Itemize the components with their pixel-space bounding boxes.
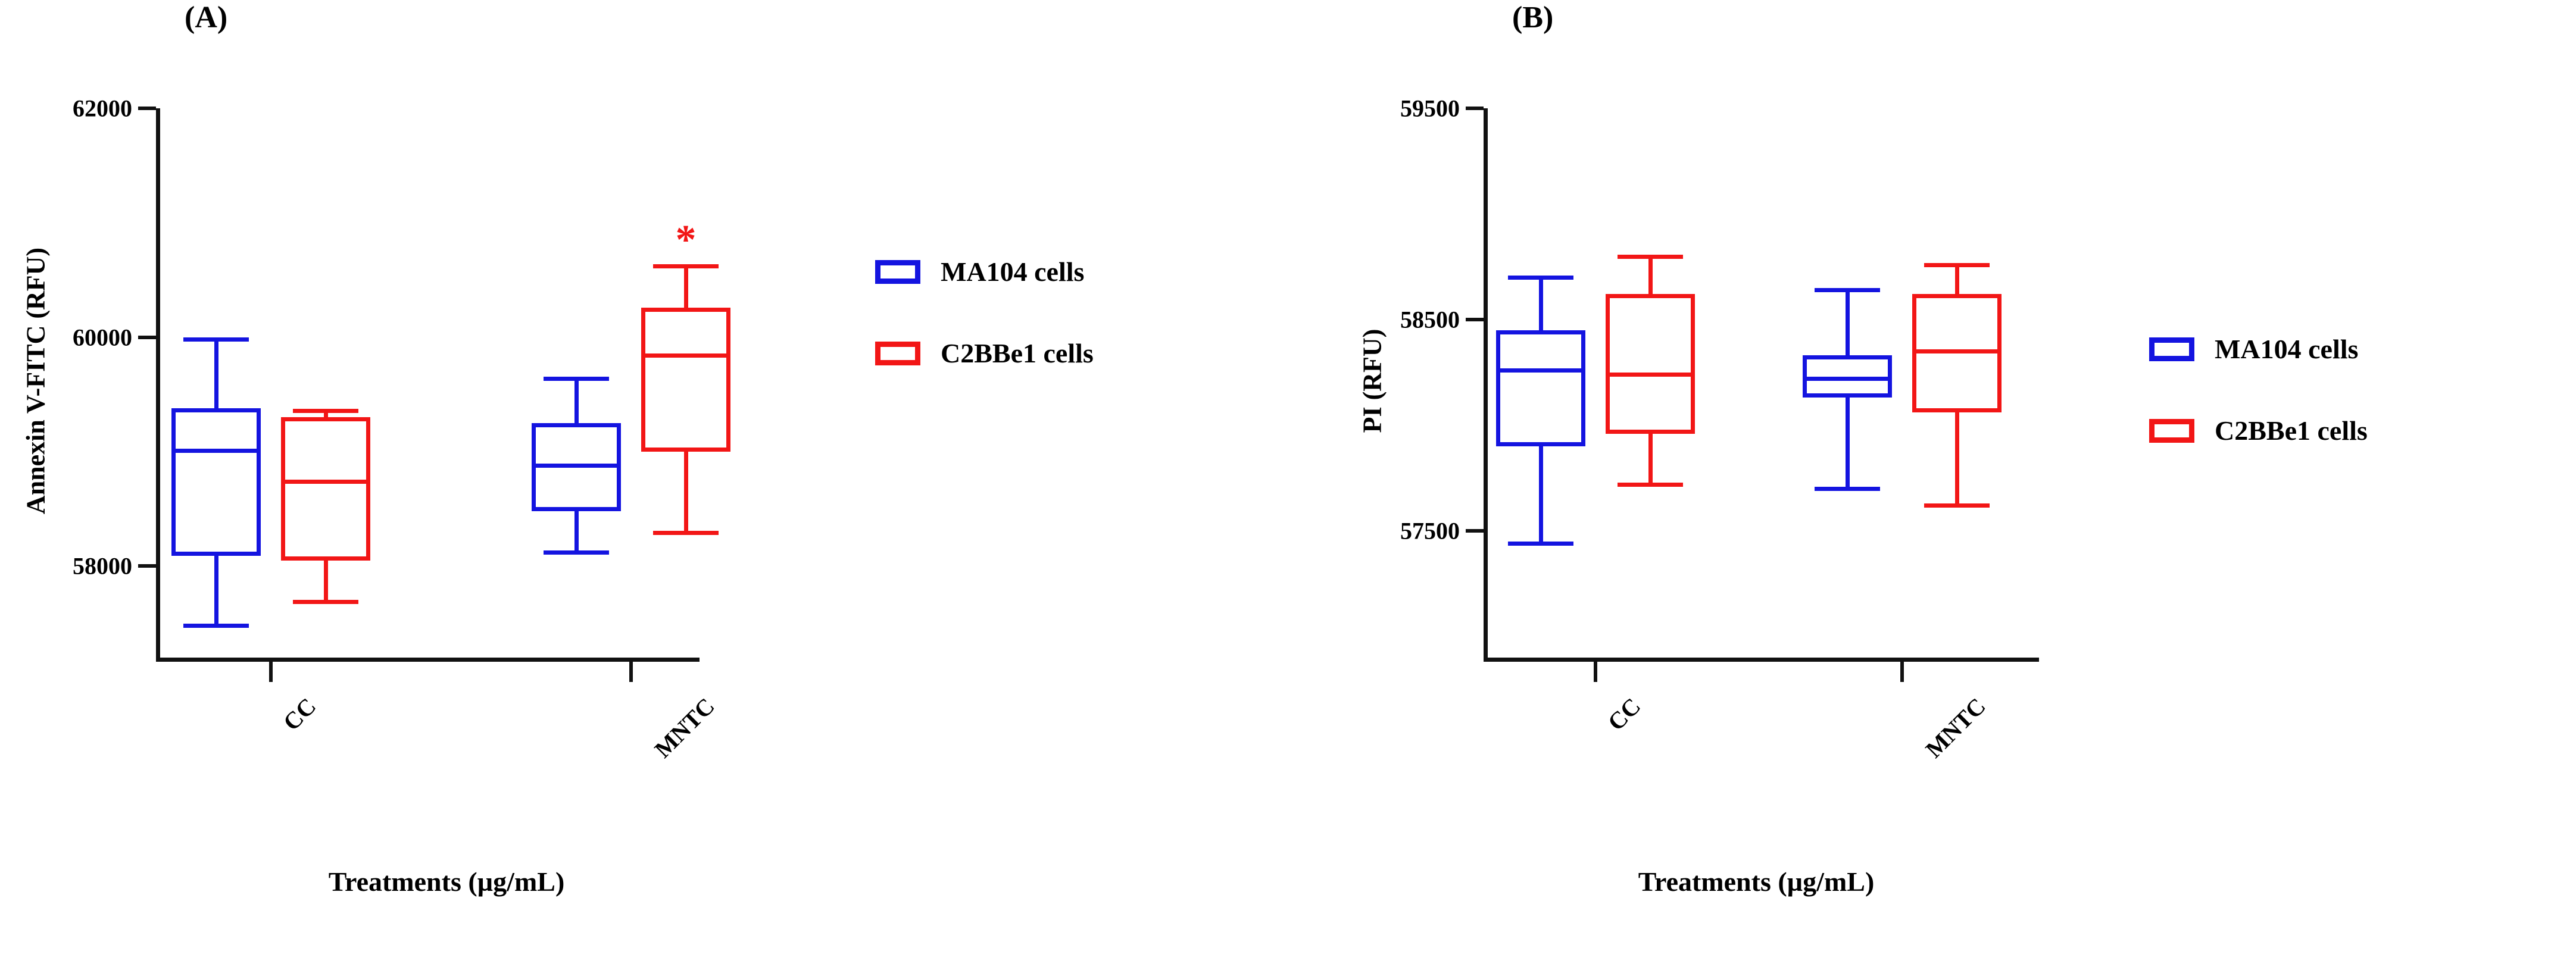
whisker-cap-upper — [544, 377, 609, 381]
y-axis-tick-label: 58000 — [0, 552, 132, 580]
y-axis-tick-label: 62000 — [0, 95, 132, 123]
legend-swatch-icon — [2149, 337, 2194, 361]
x-axis-tick — [269, 662, 273, 682]
legend-swatch-icon — [875, 342, 920, 365]
whisker-cap-lower — [183, 624, 249, 628]
y-axis-tick — [1466, 318, 1484, 321]
legend-item[interactable]: MA104 cells — [2149, 333, 2368, 365]
box-iqr — [1606, 294, 1695, 433]
x-axis-tick — [629, 662, 633, 682]
whisker-lower — [574, 511, 579, 552]
x-axis-tick — [1594, 662, 1597, 682]
whisker-lower — [1539, 446, 1543, 543]
box-iqr — [1496, 330, 1585, 446]
whisker-lower — [214, 556, 218, 625]
whisker-upper — [1846, 290, 1850, 355]
whisker-cap-upper — [1924, 263, 1990, 267]
panel-b-x-axis-title: Treatments (µg/mL) — [1488, 866, 2024, 897]
y-axis-tick — [138, 564, 156, 568]
whisker-cap-upper — [653, 264, 719, 268]
legend-swatch-icon — [875, 260, 920, 284]
box-median-line — [1803, 377, 1892, 381]
x-axis-line — [1484, 658, 2039, 662]
legend-item-label: C2BBe1 cells — [941, 337, 1094, 369]
whisker-lower — [1648, 434, 1653, 484]
x-axis-tick-label: MNTC — [649, 692, 720, 764]
whisker-upper — [1539, 277, 1543, 330]
x-axis-tick-label: CC — [277, 692, 321, 736]
whisker-lower — [324, 561, 328, 602]
panel-a: (A) Annexin V-FITC (RFU) 580006000062000… — [0, 0, 1262, 970]
whisker-upper — [1955, 265, 1959, 295]
whisker-cap-lower — [1618, 483, 1683, 487]
panel-b: (B) PI (RFU) 575005850059500CCMNTC Treat… — [1262, 0, 2576, 970]
x-axis-tick-label: MNTC — [1920, 692, 1991, 764]
whisker-lower — [1846, 398, 1850, 489]
box-median-line — [532, 464, 621, 468]
panel-b-label: (B) — [1512, 0, 1553, 35]
panel-a-y-axis-title: Annexin V-FITC (RFU) — [21, 248, 51, 514]
whisker-cap-lower — [544, 550, 609, 555]
whisker-cap-upper — [183, 337, 249, 342]
significance-asterisk: * — [676, 220, 697, 261]
panel-a-legend: MA104 cellsC2BBe1 cells — [875, 256, 1094, 419]
y-axis-tick-label: 59500 — [1317, 95, 1460, 123]
whisker-cap-upper — [293, 409, 358, 413]
legend-item[interactable]: C2BBe1 cells — [875, 337, 1094, 369]
y-axis-tick — [1466, 107, 1484, 110]
legend-item[interactable]: C2BBe1 cells — [2149, 415, 2368, 446]
box-median-line — [171, 449, 261, 453]
y-axis-line — [1484, 108, 1488, 662]
legend-item-label: C2BBe1 cells — [2215, 415, 2368, 446]
box-median-line — [1912, 349, 2002, 353]
box-median-line — [641, 353, 730, 358]
whisker-lower — [1955, 412, 1959, 505]
whisker-cap-lower — [1508, 542, 1573, 546]
whisker-cap-lower — [1815, 487, 1880, 491]
y-axis-tick — [138, 107, 156, 110]
box-median-line — [1496, 368, 1585, 373]
legend-item[interactable]: MA104 cells — [875, 256, 1094, 287]
box-median-line — [281, 480, 370, 484]
y-axis-line — [156, 108, 160, 662]
x-axis-line — [156, 658, 700, 662]
y-axis-tick-label: 57500 — [1317, 517, 1460, 545]
box-iqr — [171, 408, 261, 556]
whisker-cap-lower — [1924, 503, 1990, 508]
legend-item-label: MA104 cells — [2215, 333, 2358, 365]
whisker-upper — [214, 339, 218, 408]
whisker-upper — [684, 266, 688, 307]
panel-b-y-axis-title: PI (RFU) — [1357, 329, 1388, 433]
whisker-upper — [1648, 256, 1653, 295]
y-axis-tick — [138, 336, 156, 339]
y-axis-tick-label: 58500 — [1317, 306, 1460, 334]
y-axis-tick — [1466, 529, 1484, 533]
box-iqr — [641, 308, 730, 452]
legend-swatch-icon — [2149, 419, 2194, 443]
whisker-cap-upper — [1815, 288, 1880, 292]
panel-b-legend: MA104 cellsC2BBe1 cells — [2149, 333, 2368, 496]
whisker-lower — [684, 452, 688, 533]
whisker-cap-upper — [1508, 276, 1573, 280]
whisker-cap-lower — [653, 531, 719, 535]
whisker-cap-upper — [1618, 255, 1683, 259]
x-axis-tick — [1900, 662, 1904, 682]
box-iqr — [281, 417, 370, 560]
whisker-upper — [574, 378, 579, 423]
panel-a-x-axis-title: Treatments (µg/mL) — [179, 866, 714, 897]
x-axis-tick-label: CC — [1602, 692, 1646, 736]
panel-a-label: (A) — [185, 0, 227, 35]
box-median-line — [1606, 373, 1695, 377]
y-axis-tick-label: 60000 — [0, 323, 132, 351]
whisker-cap-lower — [293, 600, 358, 604]
legend-item-label: MA104 cells — [941, 256, 1084, 287]
